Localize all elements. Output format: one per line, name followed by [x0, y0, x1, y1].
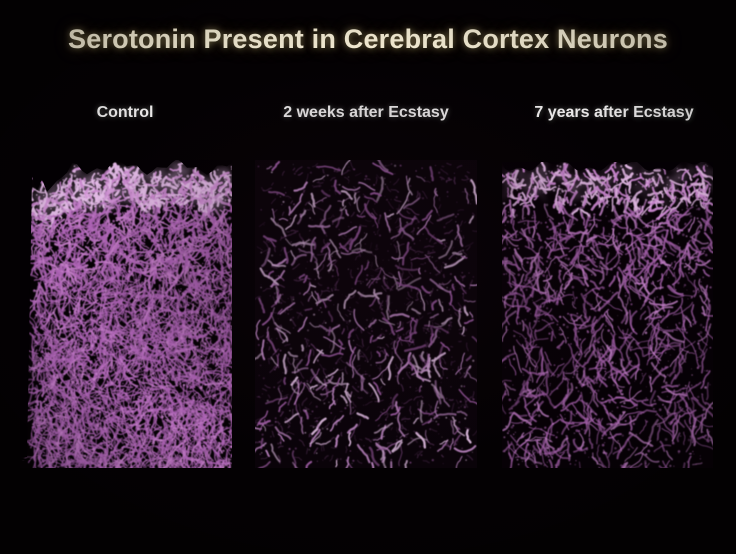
panel-label-seven-years: 7 years after Ecstasy — [505, 104, 723, 122]
micrograph-two-weeks-image — [255, 160, 477, 468]
micrograph-control-image — [20, 160, 232, 468]
micrograph-seven-years-image — [502, 162, 713, 468]
micrograph-seven-years — [502, 162, 713, 468]
page-title: Serotonin Present in Cerebral Cortex Neu… — [0, 24, 736, 55]
slide-canvas: Serotonin Present in Cerebral Cortex Neu… — [0, 0, 736, 554]
panel-label-two-weeks: 2 weeks after Ecstasy — [250, 104, 482, 122]
micrograph-control — [20, 160, 232, 468]
micrograph-two-weeks — [255, 160, 477, 468]
panel-label-control: Control — [55, 104, 195, 122]
